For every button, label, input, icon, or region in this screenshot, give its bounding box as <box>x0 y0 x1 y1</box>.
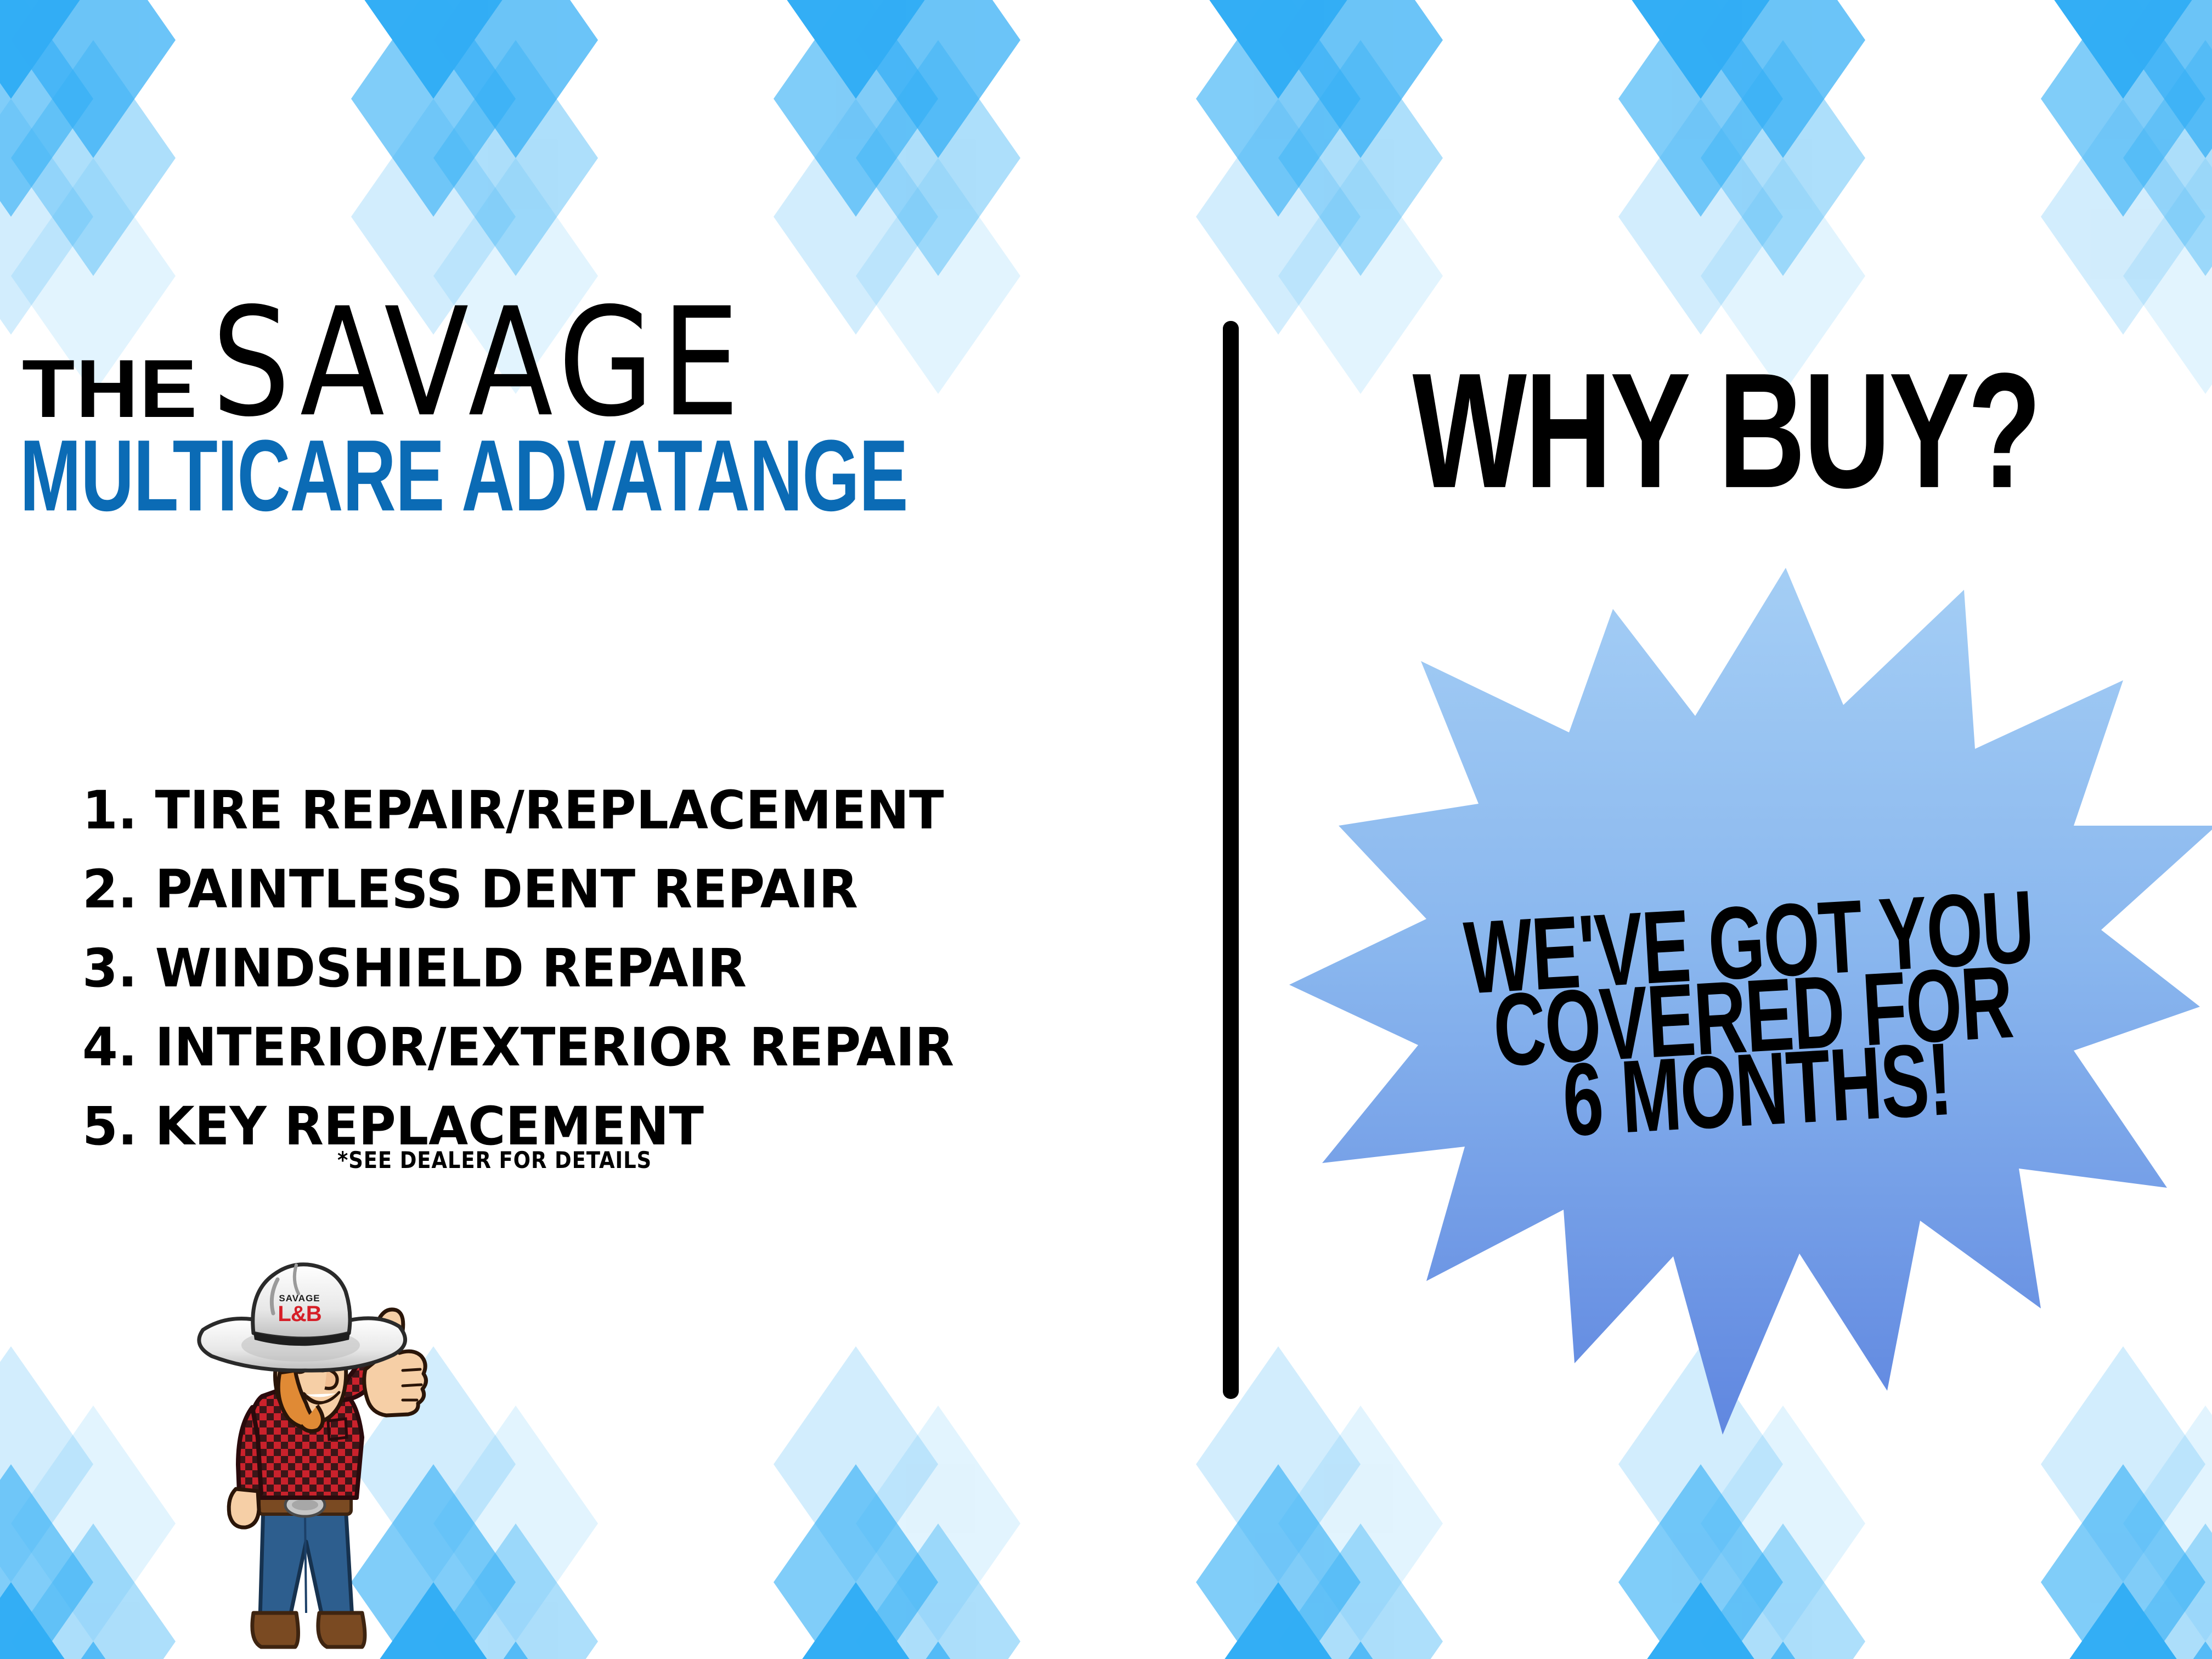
diamond-shape <box>2041 0 2205 99</box>
diamond-shape <box>1618 0 1783 99</box>
diamond-shape <box>774 0 938 217</box>
starburst-badge: WE'VE GOT YOU COVERED FOR 6 MONTHS! <box>1289 568 2212 1435</box>
diamond-shape <box>1618 0 1783 217</box>
diamond-shape <box>1701 0 1865 158</box>
list-item: 4. INTERIOR/EXTERIOR REPAIR <box>82 1008 954 1087</box>
diamond-shape <box>11 1406 176 1641</box>
diamond-shape <box>1196 99 1361 335</box>
diamond-shape <box>856 1406 1020 1641</box>
diamond-shape <box>0 1464 93 1659</box>
diamond-shape <box>1278 1641 1443 1659</box>
mascot-cowboy: SAVAGE L&B <box>181 1256 433 1659</box>
diamond-shape <box>1618 1464 1783 1659</box>
diamond-shape <box>11 1523 176 1659</box>
list-item: 1. TIRE REPAIR/REPLACEMENT <box>82 771 954 850</box>
diamond-shape <box>774 0 938 99</box>
diamond-shape <box>351 0 516 217</box>
diamond-shape <box>1196 1464 1361 1659</box>
diamond-shape <box>351 0 516 99</box>
service-list: 1. TIRE REPAIR/REPLACEMENT 2. PAINTLESS … <box>82 771 981 1166</box>
diamond-shape <box>1701 40 1865 276</box>
brand-heading: THE SAVAGE <box>22 321 769 421</box>
hat-logo-main: L&B <box>278 1302 321 1326</box>
left-panel: THE SAVAGE MULTICARE ADVATANGE 1. TIRE R… <box>0 307 1196 1350</box>
diamond-shape <box>2123 40 2212 276</box>
diamond-shape <box>2041 1582 2205 1659</box>
diamond-shape <box>11 40 176 276</box>
mascot-cowboy-hat: SAVAGE L&B <box>199 1265 405 1370</box>
diamond-shape <box>1278 40 1443 276</box>
diamond-shape <box>856 0 1020 158</box>
diamond-shape <box>856 1523 1020 1659</box>
diamond-shape <box>0 1346 93 1582</box>
diamond-shape <box>774 1346 938 1582</box>
promo-poster: THE SAVAGE MULTICARE ADVATANGE 1. TIRE R… <box>0 0 2212 1659</box>
diamond-shape <box>11 1641 176 1659</box>
diamond-shape <box>2041 1464 2205 1659</box>
diamond-shape <box>0 0 93 217</box>
disclaimer-text: *SEE DEALER FOR DETAILS <box>337 1147 652 1173</box>
list-item: 3. WINDSHIELD REPAIR <box>82 929 954 1008</box>
diamond-shape <box>856 1641 1020 1659</box>
mascot-illustration: SAVAGE L&B <box>181 1256 433 1659</box>
diamond-shape <box>0 99 93 335</box>
diamond-shape <box>2123 1641 2212 1659</box>
mascot-left-hand <box>229 1489 259 1527</box>
diamond-shape <box>1196 1582 1361 1659</box>
diamond-shape <box>2041 0 2205 217</box>
diamond-shape <box>1278 1523 1443 1659</box>
starburst-text: WE'VE GOT YOU COVERED FOR 6 MONTHS! <box>1284 879 2212 1153</box>
diamond-shape <box>433 40 598 276</box>
diamond-shape <box>0 1582 93 1659</box>
why-buy-headline: WHY BUY? <box>1259 357 2192 504</box>
diamond-shape <box>1618 1582 1783 1659</box>
diamond-shape <box>1196 0 1361 99</box>
diamond-shape <box>1701 1641 1865 1659</box>
diamond-shape <box>2041 99 2205 335</box>
diamond-shape <box>433 0 598 158</box>
background-pattern-top <box>0 0 2212 313</box>
list-item: 2. PAINTLESS DENT REPAIR <box>82 850 954 929</box>
mascot-jeans <box>260 1506 352 1618</box>
diamond-shape <box>774 99 938 335</box>
vertical-divider <box>1223 321 1239 1399</box>
brand-subtitle: MULTICARE ADVATANGE <box>20 425 908 527</box>
diamond-shape <box>433 1406 598 1641</box>
brand-the-word: THE <box>22 356 198 421</box>
diamond-shape <box>856 40 1020 276</box>
diamond-shape <box>0 0 93 99</box>
diamond-shape <box>1278 0 1443 158</box>
diamond-shape <box>433 1523 598 1659</box>
diamond-shape <box>433 1641 598 1659</box>
brand-savage-wordmark: SAVAGE <box>212 305 747 422</box>
right-panel: WHY BUY? WE'VE GOT YOU COVERED FOR 6 MON… <box>1240 307 2212 1459</box>
diamond-shape <box>1618 99 1783 335</box>
diamond-shape <box>11 0 176 158</box>
diamond-shape <box>774 1464 938 1659</box>
diamond-shape <box>774 1582 938 1659</box>
diamond-shape <box>2123 0 2212 158</box>
diamond-shape <box>1196 0 1361 217</box>
mascot-boots <box>252 1613 365 1647</box>
diamond-shape <box>2123 1523 2212 1659</box>
diamond-shape <box>1701 1523 1865 1659</box>
